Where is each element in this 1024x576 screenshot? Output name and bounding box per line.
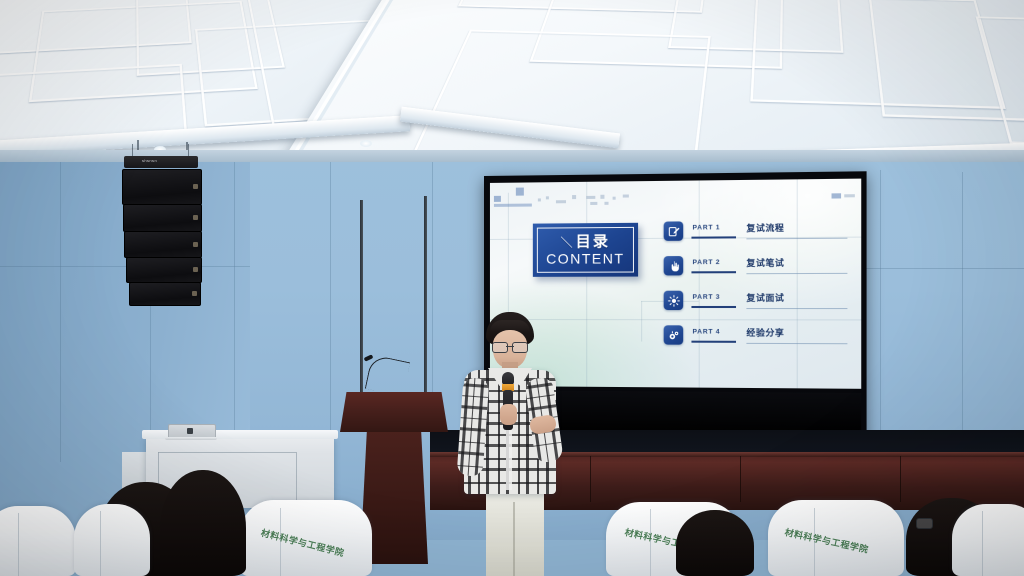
speaker-module bbox=[122, 169, 202, 205]
agenda-part-number: PART 4 bbox=[692, 328, 720, 335]
speaker-module bbox=[124, 231, 202, 258]
speaker-brand-label: shsnsn bbox=[142, 158, 157, 163]
agenda-part-title: 经验分享 bbox=[746, 326, 784, 338]
audience-head bbox=[676, 510, 754, 576]
lightbulb-sun-icon bbox=[664, 291, 684, 310]
presenter-glasses-icon bbox=[492, 342, 528, 351]
agenda-rule bbox=[746, 273, 847, 274]
chair-cover bbox=[0, 506, 76, 576]
wall-seam bbox=[962, 172, 963, 454]
wall-seam bbox=[880, 170, 881, 454]
mic-gooseneck bbox=[365, 354, 410, 396]
agenda-rule bbox=[746, 308, 847, 309]
presenter-laptop[interactable] bbox=[165, 424, 217, 440]
agenda-underline bbox=[691, 236, 736, 238]
agenda-underline bbox=[691, 341, 736, 343]
chair-cover bbox=[952, 504, 1024, 576]
laptop-base bbox=[165, 437, 217, 440]
stage-pole-left bbox=[360, 200, 363, 400]
chair-cover bbox=[74, 504, 150, 576]
audience-head bbox=[160, 470, 246, 576]
chair-cover-with-text: 材料科学与工程学院 bbox=[768, 500, 904, 576]
hand-touch-icon bbox=[664, 256, 684, 275]
agenda-part-title: 复试流程 bbox=[746, 222, 784, 235]
agenda-underline bbox=[691, 271, 736, 273]
presenter-person bbox=[456, 312, 564, 576]
speaker-module bbox=[123, 204, 202, 232]
agenda-rule bbox=[746, 238, 847, 240]
chair-embroidery-text: 材料科学与工程学院 bbox=[260, 526, 346, 559]
agenda-part-number: PART 1 bbox=[692, 224, 720, 231]
agenda-item-part1[interactable]: PART 1 复试流程 bbox=[664, 218, 848, 245]
speaker-module bbox=[129, 282, 201, 306]
downlight-icon bbox=[360, 140, 372, 147]
chair-cover-with-text: 材料科学与工程学院 bbox=[240, 500, 372, 576]
wall-seam bbox=[60, 162, 61, 462]
agenda-item-part3[interactable]: PART 3 复试面试 bbox=[664, 288, 848, 314]
note-pen-icon bbox=[664, 221, 684, 240]
agenda-list: PART 1 复试流程 PART 2 复试笔试 bbox=[664, 218, 848, 359]
agenda-part-title: 复试面试 bbox=[746, 292, 784, 304]
ppt-ui-ghost-right bbox=[832, 193, 860, 201]
wall-seam bbox=[330, 162, 331, 462]
podium-top bbox=[340, 392, 448, 432]
audience-glasses-icon bbox=[916, 518, 933, 529]
badge-english-title: CONTENT bbox=[546, 251, 624, 265]
line-array-speaker: shsnsn bbox=[118, 156, 204, 304]
badge-chinese-text: 目录 bbox=[576, 233, 610, 250]
lecture-hall-photo: shsnsn bbox=[0, 0, 1024, 576]
speaker-bracket bbox=[124, 156, 198, 168]
agenda-part-title: 复试笔试 bbox=[746, 257, 784, 269]
agenda-item-part4[interactable]: PART 4 经验分享 bbox=[664, 323, 848, 349]
ppt-ui-ghost bbox=[494, 185, 676, 213]
laptop-logo-icon bbox=[187, 428, 193, 434]
podium-microphone[interactable] bbox=[366, 358, 408, 396]
gear-share-icon bbox=[664, 325, 684, 344]
wall-seam bbox=[856, 268, 1024, 269]
agenda-part-number: PART 3 bbox=[692, 294, 720, 301]
presenter-trousers bbox=[486, 488, 544, 576]
presenter-hand-holding-mic bbox=[500, 404, 517, 425]
agenda-underline bbox=[691, 306, 736, 308]
agenda-item-part2[interactable]: PART 2 复试笔试 bbox=[664, 253, 848, 279]
chair-embroidery-text: 材料科学与工程学院 bbox=[784, 525, 870, 555]
stage-pole-right bbox=[424, 196, 427, 396]
content-badge: ＼目录 CONTENT bbox=[533, 223, 638, 277]
agenda-part-number: PART 2 bbox=[692, 259, 720, 266]
agenda-rule bbox=[746, 343, 847, 344]
speaker-module bbox=[126, 257, 202, 283]
badge-chinese-title: ＼目录 bbox=[560, 234, 610, 249]
wall-seam bbox=[150, 300, 151, 450]
badge-slash: ＼ bbox=[560, 235, 574, 249]
